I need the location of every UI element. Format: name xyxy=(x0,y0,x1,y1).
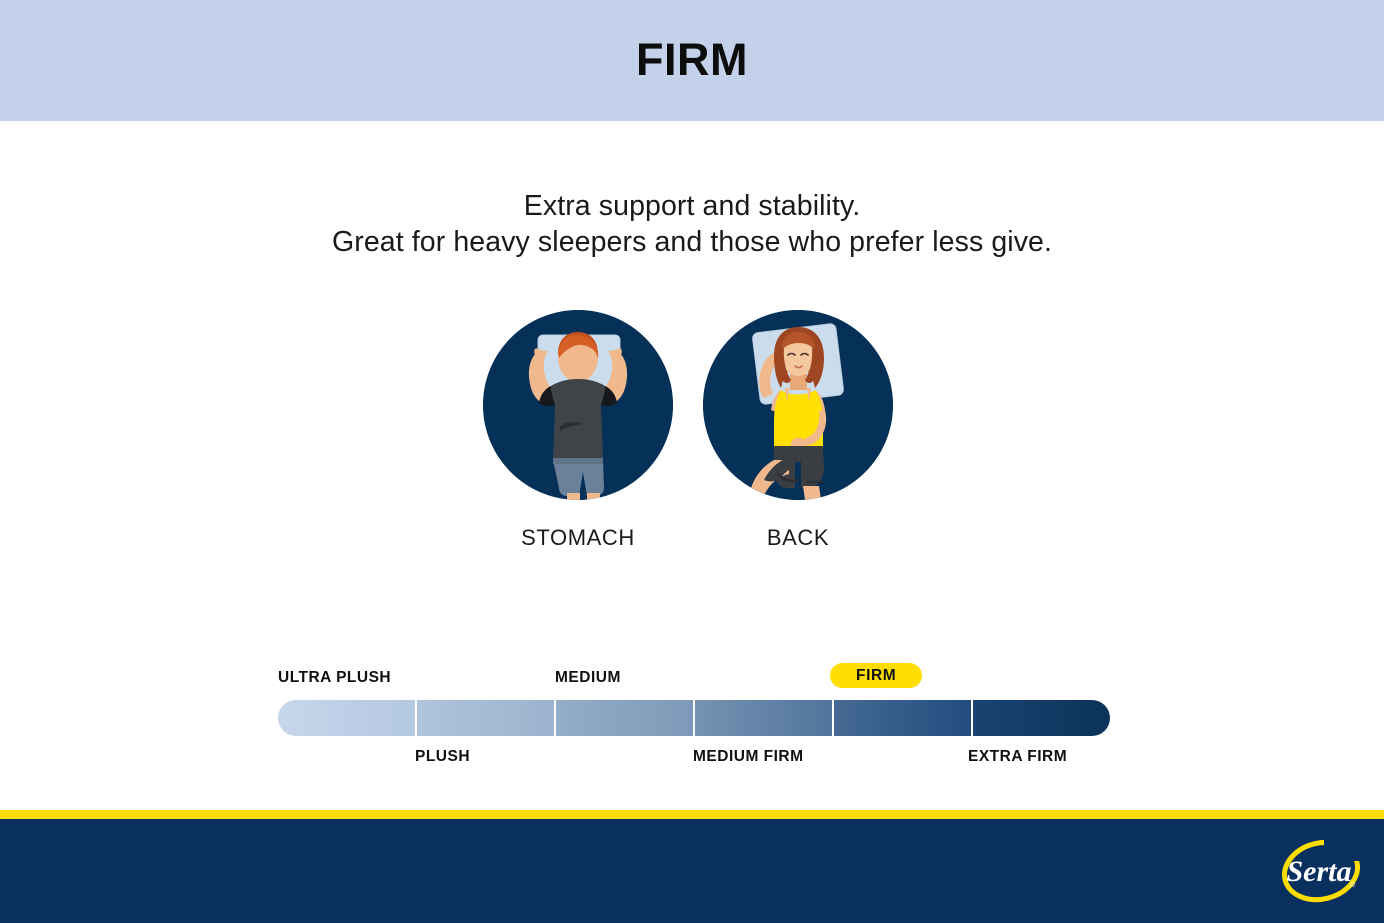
scale-segment-plush[interactable] xyxy=(417,700,556,736)
footer-band: Serta ® xyxy=(0,819,1384,923)
scale-label-ultra-plush: ULTRA PLUSH xyxy=(278,669,391,687)
footer-accent-stripe xyxy=(0,810,1384,819)
scale-label-plush: PLUSH xyxy=(415,748,470,766)
firmness-scale: ULTRA PLUSH MEDIUM FIRM PLUSH MEDIUM FIR… xyxy=(278,660,1112,770)
sleep-position-back: BACK xyxy=(703,310,893,551)
sleep-position-label-back: BACK xyxy=(703,525,893,551)
scale-segment-firm[interactable] xyxy=(834,700,973,736)
back-sleeper-icon xyxy=(703,310,893,500)
scale-label-medium: MEDIUM xyxy=(555,669,621,687)
subtitle-block: Extra support and stability. Great for h… xyxy=(0,188,1384,260)
scale-selected-badge-label: FIRM xyxy=(856,667,896,685)
sleep-position-label-stomach: STOMACH xyxy=(483,525,673,551)
serta-logo-text: Serta xyxy=(1286,855,1351,888)
sleep-position-group: STOMACH xyxy=(483,310,903,590)
sleep-position-stomach: STOMACH xyxy=(483,310,673,551)
scale-segment-medium-firm[interactable] xyxy=(695,700,834,736)
scale-label-medium-firm: MEDIUM FIRM xyxy=(693,748,804,766)
subtitle-line-1: Extra support and stability. xyxy=(0,188,1384,224)
stomach-sleeper-icon xyxy=(483,310,673,500)
header-band: FIRM xyxy=(0,0,1384,121)
serta-logo: Serta ® xyxy=(1280,835,1362,907)
scale-label-extra-firm: EXTRA FIRM xyxy=(968,748,1067,766)
scale-segment-medium[interactable] xyxy=(556,700,695,736)
serta-logo-registered-mark: ® xyxy=(1350,881,1356,889)
firmness-scale-bar[interactable] xyxy=(278,700,1110,736)
page-title: FIRM xyxy=(636,37,748,82)
slide-canvas: FIRM Extra support and stability. Great … xyxy=(0,0,1384,923)
scale-selected-badge-firm[interactable]: FIRM xyxy=(830,663,922,688)
scale-segment-ultra-plush[interactable] xyxy=(278,700,417,736)
subtitle-line-2: Great for heavy sleepers and those who p… xyxy=(0,224,1384,260)
scale-segment-extra-firm[interactable] xyxy=(973,700,1110,736)
